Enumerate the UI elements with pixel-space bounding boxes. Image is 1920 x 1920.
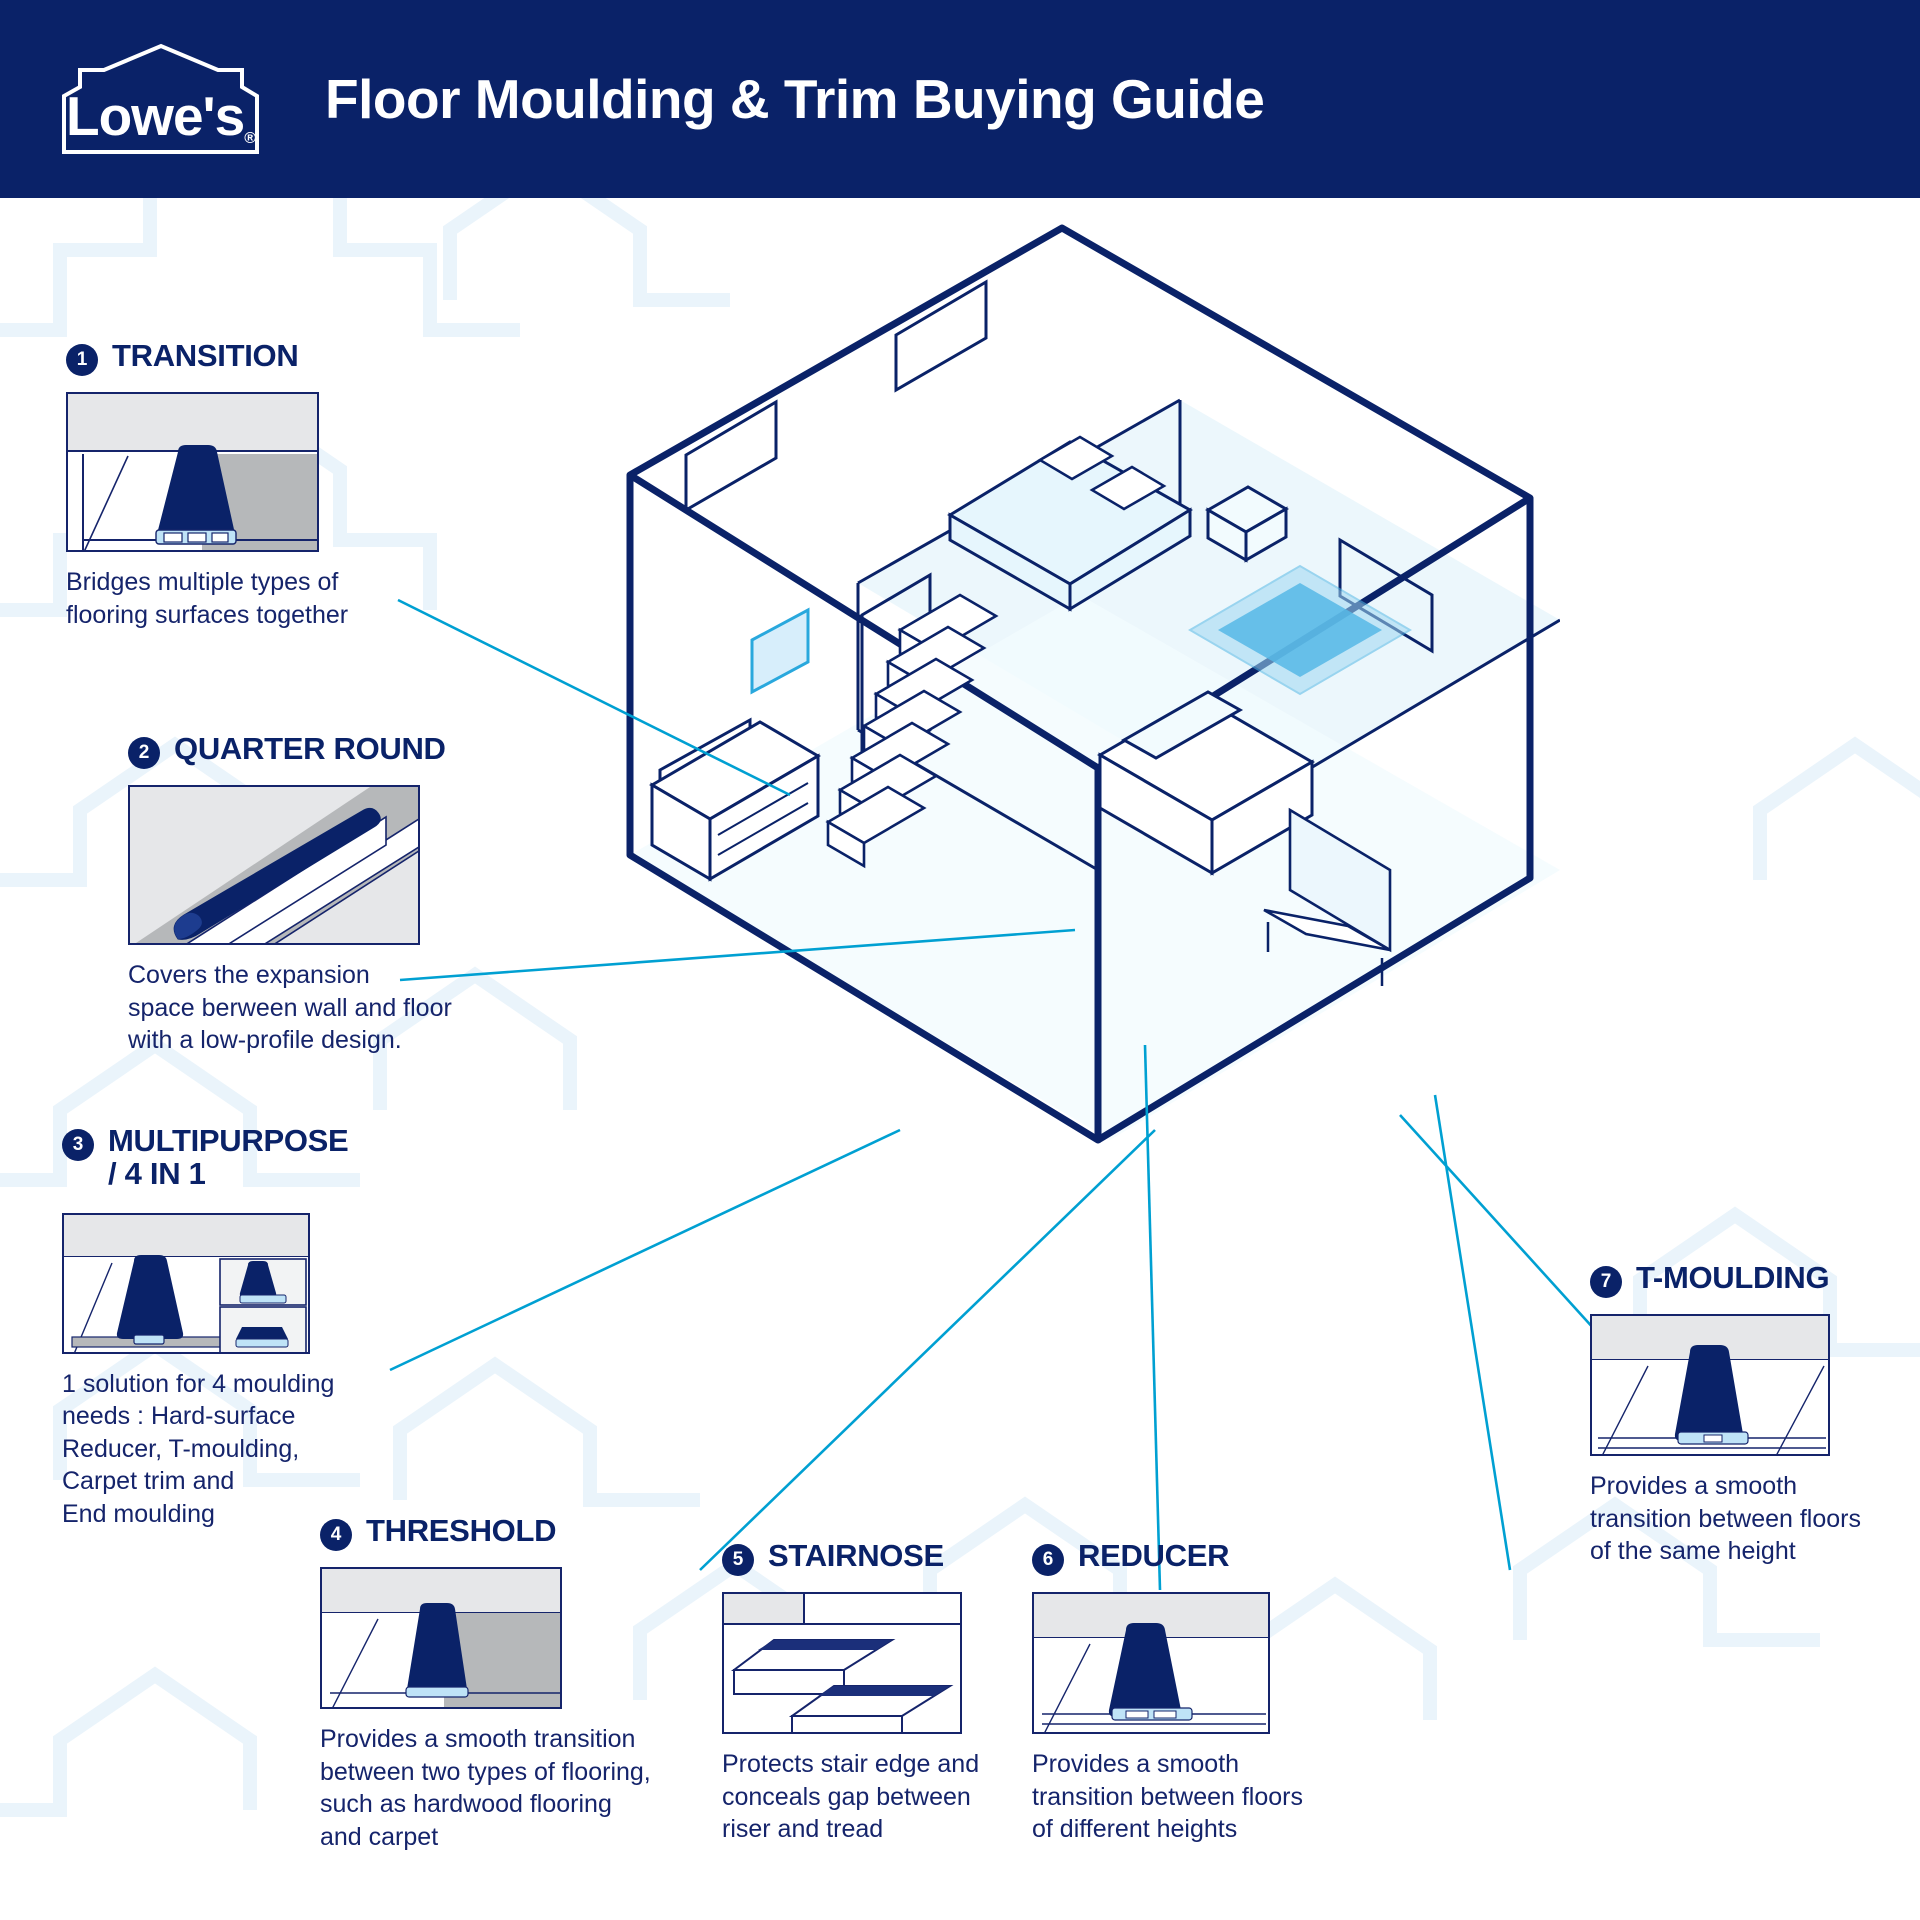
item-2-badge: 2: [128, 737, 160, 769]
item-threshold[interactable]: 4 THRESHOLD Provides a smooth transition…: [320, 1515, 720, 1853]
item-reducer[interactable]: 6 REDUCER Provides a smooth transition b…: [1032, 1540, 1352, 1846]
item-5-title: STAIRNOSE: [768, 1540, 944, 1573]
item-3-caption: 1 solution for 4 moulding needs : Hard-s…: [62, 1368, 422, 1531]
item-7-caption: Provides a smooth transition between flo…: [1590, 1470, 1910, 1568]
item-7-heading: 7 T-MOULDING: [1590, 1262, 1910, 1298]
item-3-title: MULTIPURPOSE / 4 IN 1: [108, 1125, 348, 1191]
item-3-badge: 3: [62, 1129, 94, 1161]
item-6-badge: 6: [1032, 1544, 1064, 1576]
item-stairnose[interactable]: 5 STAIRNOSE Protects stair edge and conc…: [722, 1540, 1042, 1846]
item-3-heading: 3 MULTIPURPOSE / 4 IN 1: [62, 1125, 422, 1191]
item-7-badge: 7: [1590, 1266, 1622, 1298]
item-4-title: THRESHOLD: [366, 1515, 556, 1548]
quarter-round-profile-illustration: [128, 785, 420, 945]
item-1-badge: 1: [66, 344, 98, 376]
reducer-profile-illustration: [1032, 1592, 1270, 1734]
multipurpose-profile-illustration: [62, 1213, 310, 1354]
lowes-logo-text: Lowe's®: [58, 40, 263, 158]
isometric-house-cutaway: [600, 210, 1560, 1150]
item-2-caption: Covers the expansion space berween wall …: [128, 959, 488, 1057]
item-5-heading: 5 STAIRNOSE: [722, 1540, 1042, 1576]
item-multipurpose[interactable]: 3 MULTIPURPOSE / 4 IN 1 1 solution for 4…: [62, 1125, 422, 1530]
item-7-title: T-MOULDING: [1636, 1262, 1829, 1295]
t-moulding-profile-illustration: [1590, 1314, 1830, 1456]
lowes-logo: Lowe's®: [58, 40, 263, 158]
item-quarter-round[interactable]: 2 QUARTER ROUND Covers the expansion spa…: [128, 733, 488, 1057]
item-4-badge: 4: [320, 1519, 352, 1551]
stairnose-profile-illustration: [722, 1592, 962, 1734]
item-6-caption: Provides a smooth transition between flo…: [1032, 1748, 1352, 1846]
page-title: Floor Moulding & Trim Buying Guide: [325, 67, 1264, 131]
item-2-heading: 2 QUARTER ROUND: [128, 733, 488, 769]
item-6-title: REDUCER: [1078, 1540, 1229, 1573]
registered-mark-icon: ®: [244, 130, 255, 148]
page-header: Lowe's® Floor Moulding & Trim Buying Gui…: [0, 0, 1920, 198]
item-t-moulding[interactable]: 7 T-MOULDING Provides a smooth transitio…: [1590, 1262, 1910, 1568]
item-6-heading: 6 REDUCER: [1032, 1540, 1352, 1576]
item-1-title: TRANSITION: [112, 340, 298, 373]
threshold-profile-illustration: [320, 1567, 562, 1709]
item-transition[interactable]: 1 TRANSITION Bridges multiple types of f…: [66, 340, 406, 631]
item-5-caption: Protects stair edge and conceals gap bet…: [722, 1748, 1042, 1846]
item-5-badge: 5: [722, 1544, 754, 1576]
item-1-caption: Bridges multiple types of flooring surfa…: [66, 566, 406, 631]
item-2-title: QUARTER ROUND: [174, 733, 446, 766]
item-1-heading: 1 TRANSITION: [66, 340, 406, 376]
transition-profile-illustration: [66, 392, 319, 552]
item-4-heading: 4 THRESHOLD: [320, 1515, 720, 1551]
item-4-caption: Provides a smooth transition between two…: [320, 1723, 720, 1853]
